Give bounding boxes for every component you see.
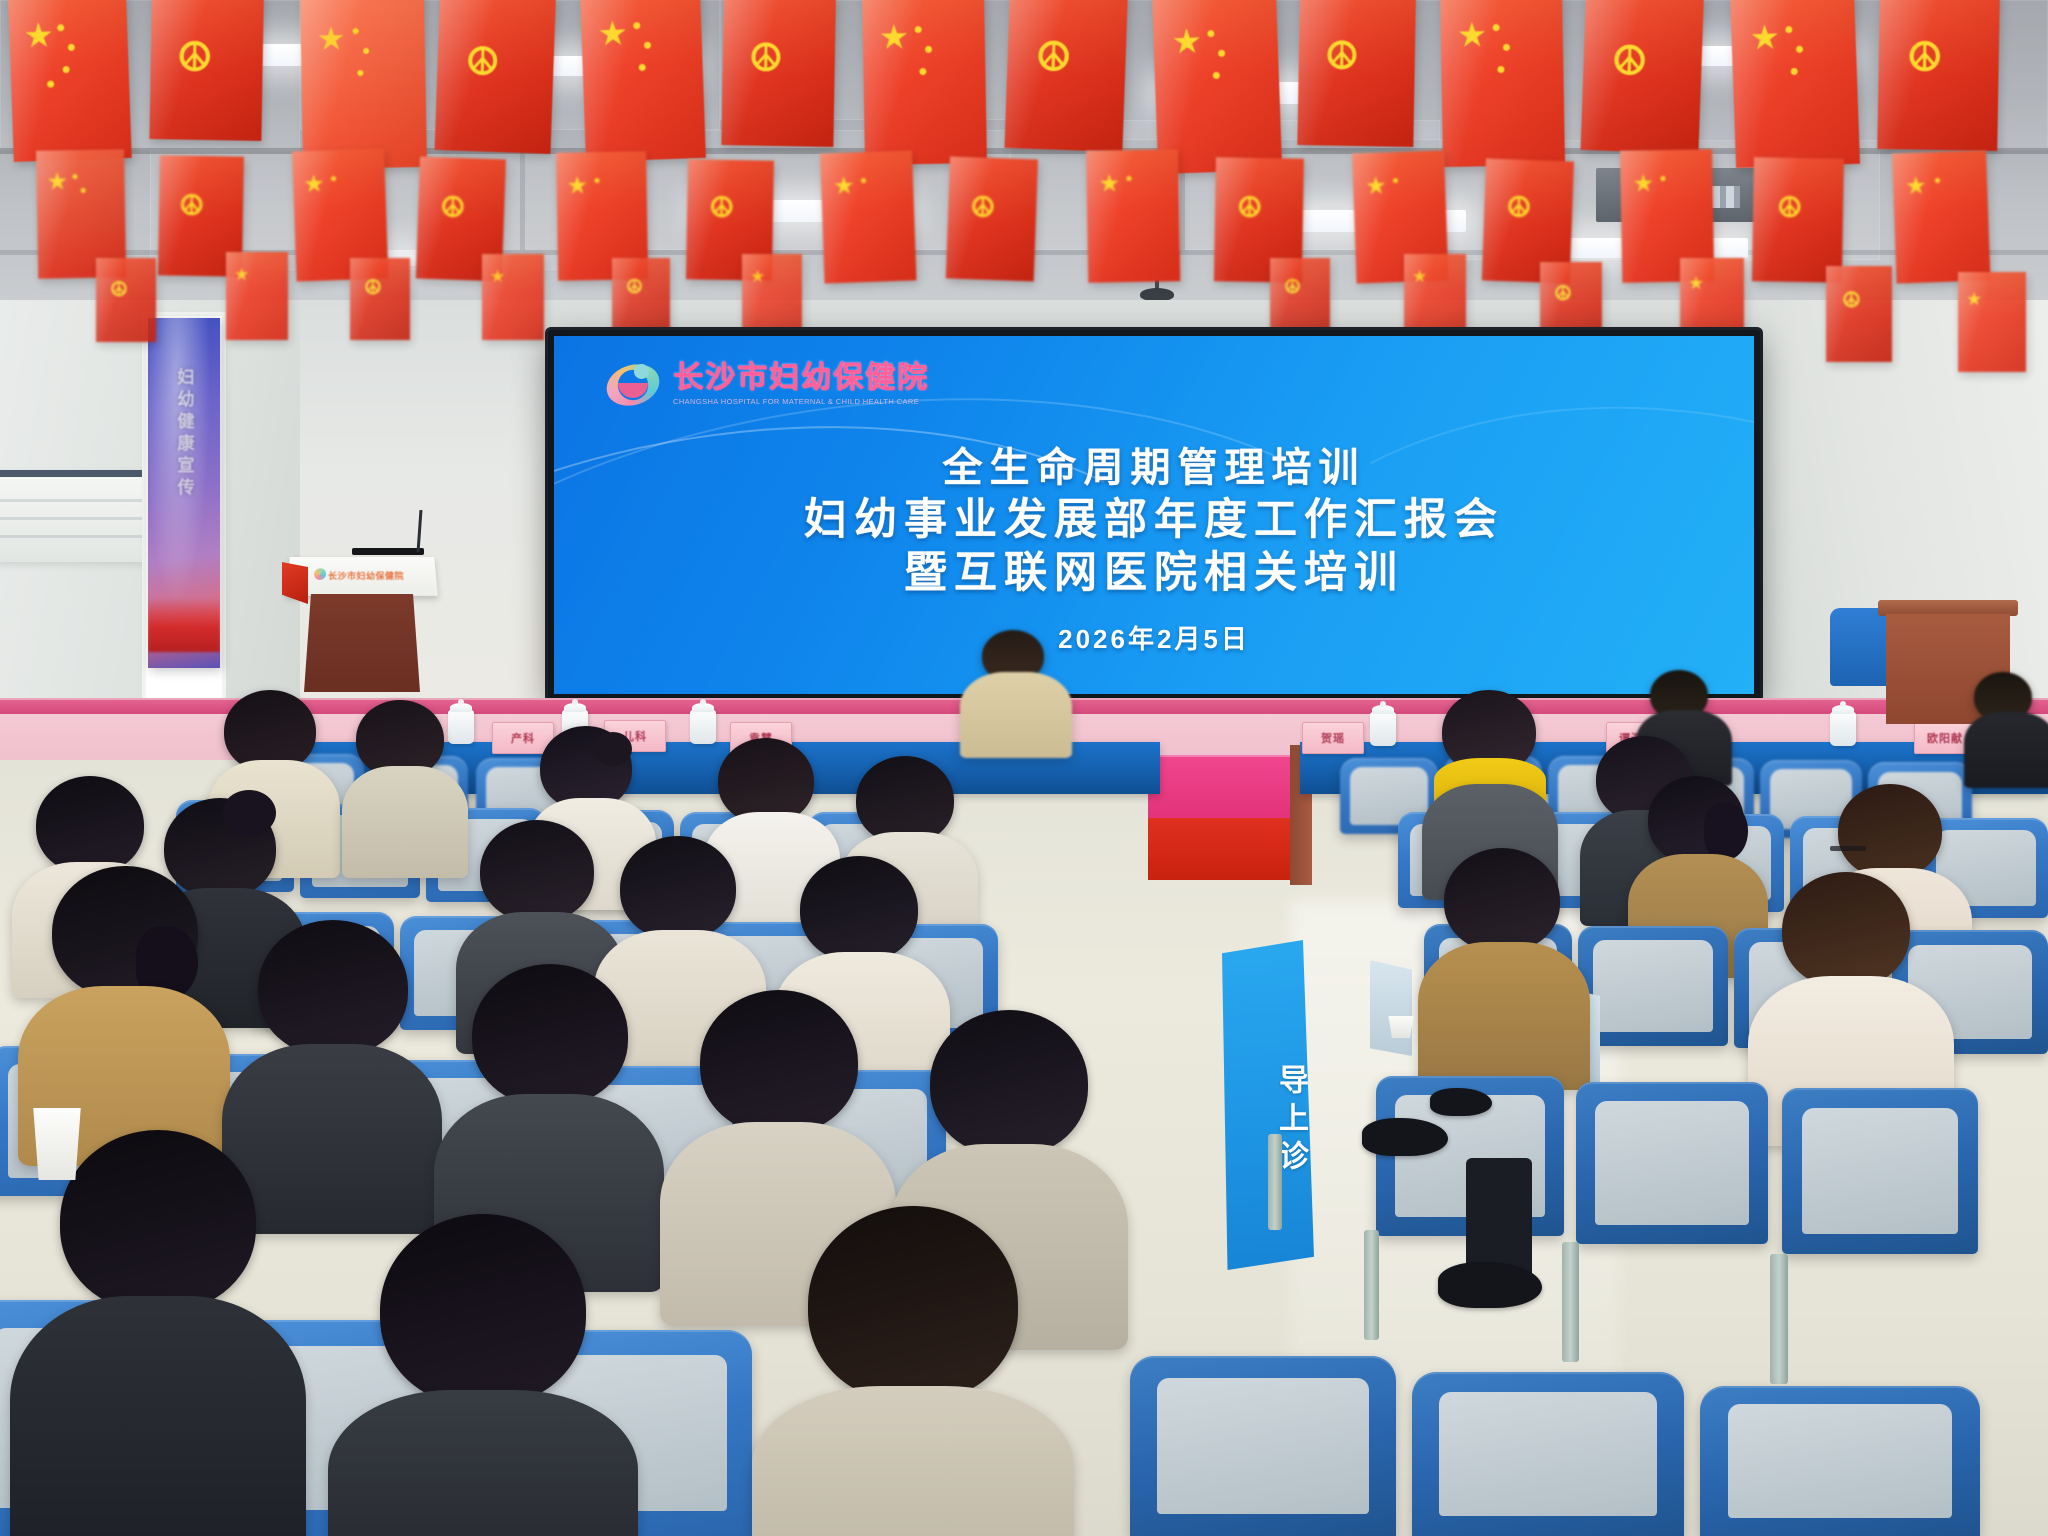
screen-title-line-2: 妇幼事业发展部年度工作汇报会	[554, 494, 1754, 547]
name-card-text: 贺瑶	[1321, 730, 1345, 746]
hair-bun	[1704, 802, 1748, 860]
cpc-party-flag: ☮	[1004, 0, 1128, 152]
teacup	[448, 710, 474, 744]
teacup	[1370, 712, 1396, 746]
attendee-shoe	[1430, 1088, 1492, 1116]
china-national-flag: ★	[862, 0, 987, 165]
china-national-flag: ★	[820, 150, 916, 283]
china-national-flag: ★	[1086, 149, 1180, 283]
seat-tablet-arm[interactable]	[1370, 960, 1412, 1056]
cpc-party-flag: ☮	[946, 156, 1038, 281]
teacup	[1830, 712, 1856, 746]
cpc-party-flag: ☮	[435, 0, 556, 154]
china-national-flag: ★	[580, 0, 706, 162]
eyeglasses	[1830, 846, 1866, 851]
china-national-flag: ★	[1404, 254, 1466, 340]
cpc-party-flag: ☮	[1752, 157, 1844, 283]
cpc-party-flag: ☮	[350, 258, 410, 340]
seat-support-leg	[1268, 1134, 1282, 1230]
podium-microphone-base	[352, 548, 424, 555]
cpc-party-flag: ☮	[1877, 0, 2000, 151]
seat[interactable]	[1578, 926, 1728, 1046]
china-national-flag: ★	[1152, 0, 1282, 174]
hospital-logo-name-cn: 长沙市妇幼保健院	[673, 363, 929, 393]
screen-title-line-1: 全生命周期管理培训	[554, 444, 1754, 494]
wall-poster: 妇幼健康宣传	[148, 318, 220, 668]
china-national-flag: ★	[1440, 0, 1565, 167]
mother-and-child-emblem-icon	[606, 360, 660, 408]
stage-step-lower	[1148, 818, 1300, 880]
speaker-podium: 长沙市妇幼保健院	[288, 556, 436, 691]
cpc-party-flag: ☮	[1581, 0, 1704, 154]
teacup	[690, 710, 716, 744]
china-national-flag: ★	[8, 0, 132, 162]
seat[interactable]	[1782, 1088, 1978, 1254]
china-national-flag: ★	[482, 254, 544, 340]
cpc-party-flag: ☮	[1270, 258, 1330, 340]
name-card-text: 产科	[511, 730, 535, 746]
podium-logo-text: 长沙市妇幼保健院	[328, 569, 405, 582]
attendee-shoe	[1362, 1118, 1448, 1156]
china-national-flag: ★	[1958, 272, 2026, 372]
screen-title-line-3: 暨互联网医院相关培训	[554, 547, 1754, 600]
cpc-party-flag: ☮	[1297, 0, 1416, 147]
name-card-text: 欧阳献	[1927, 730, 1963, 746]
hair-bun	[222, 790, 276, 836]
china-national-flag: ★	[226, 252, 288, 340]
wall-poster-text: 妇幼健康宣传	[172, 368, 197, 500]
conference-hall-photo: 妇幼健康宣传 ★ ☮ ★ ☮ ★ ☮ ★	[0, 0, 2048, 1536]
china-national-flag: ★	[300, 0, 427, 169]
name-card: 贺瑶	[1302, 722, 1364, 754]
cpc-party-flag: ☮	[1826, 266, 1892, 362]
podium-logo-icon	[314, 568, 327, 580]
hospital-logo-name-en: CHANGSHA HOSPITAL FOR MATERNAL & CHILD H…	[673, 397, 929, 406]
hospital-logo: 长沙市妇幼保健院 CHANGSHA HOSPITAL FOR MATERNAL …	[606, 360, 929, 408]
led-screen-content: 长沙市妇幼保健院 CHANGSHA HOSPITAL FOR MATERNAL …	[554, 336, 1754, 694]
screen-event-date: 2026年2月5日	[554, 619, 1754, 656]
paper-cup	[30, 1108, 84, 1180]
seat-support-leg	[1770, 1254, 1788, 1384]
cpc-party-flag: ☮	[149, 0, 264, 141]
seat-support-leg	[1562, 1242, 1579, 1362]
led-stage-screen: 长沙市妇幼保健院 CHANGSHA HOSPITAL FOR MATERNAL …	[548, 330, 1760, 700]
seat[interactable]	[1412, 1372, 1684, 1536]
cpc-party-flag: ☮	[721, 0, 836, 147]
seat[interactable]	[1700, 1386, 1980, 1536]
cpc-party-flag: ☮	[612, 258, 670, 338]
seat[interactable]	[1576, 1082, 1768, 1244]
cpc-party-flag: ☮	[96, 258, 156, 342]
seat[interactable]	[1130, 1356, 1396, 1536]
china-national-flag: ★	[742, 254, 802, 338]
stage-step-upper	[1148, 755, 1294, 823]
china-national-flag: ★	[1892, 150, 1990, 283]
seat-support-leg	[1364, 1230, 1379, 1340]
hair-bun	[594, 732, 632, 766]
china-national-flag: ★	[1730, 0, 1860, 168]
screen-title-block: 全生命周期管理培训 妇幼事业发展部年度工作汇报会 暨互联网医院相关培训	[554, 444, 1754, 600]
